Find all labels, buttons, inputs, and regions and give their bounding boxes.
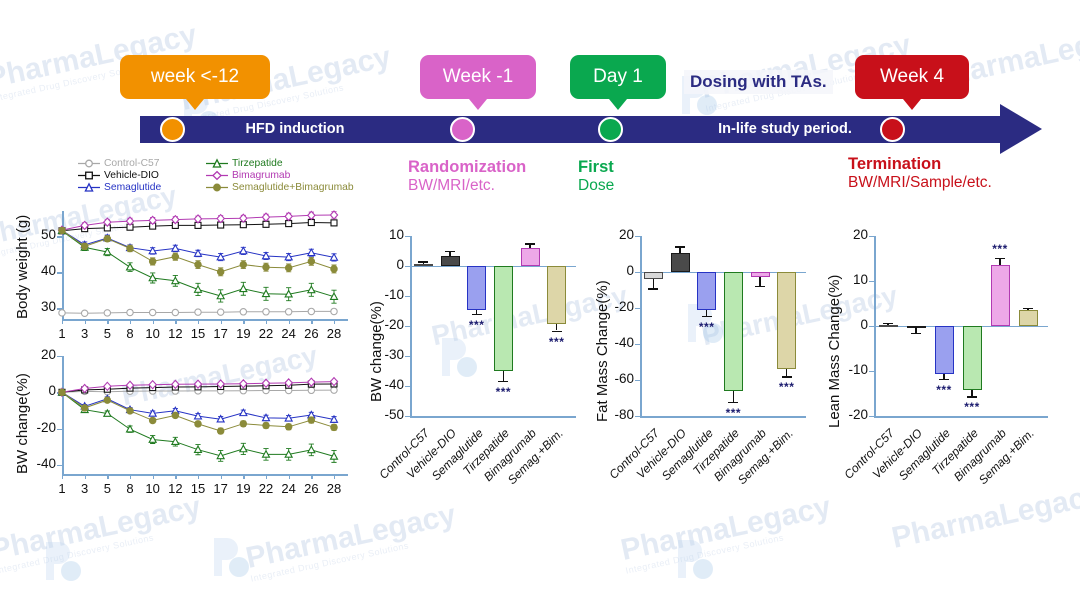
error-bar-cap: [883, 323, 893, 324]
line-series-layer: [0, 205, 360, 355]
bar: [644, 272, 663, 279]
timeline-milestone-label: Week -1: [443, 66, 513, 87]
pill-tail-icon: [609, 99, 627, 110]
circle-marker-icon: [78, 158, 100, 169]
bar: [879, 325, 898, 327]
error-bar-cap: [939, 379, 949, 380]
y-tick-label: -40: [598, 335, 634, 350]
bar: [671, 253, 690, 272]
error-bar: [759, 277, 760, 286]
day-1-node: [598, 117, 623, 142]
error-bar-cap: [1023, 308, 1033, 309]
bar: [724, 272, 743, 391]
bar: [991, 265, 1010, 326]
bar: [777, 272, 796, 369]
watermark-text: PharmaLegacy Integrated Drug Discovery S…: [618, 490, 836, 575]
y-tick-label: 0: [598, 263, 634, 278]
y-tickmark: [405, 416, 410, 417]
y-tick-label: -30: [368, 347, 404, 362]
error-bar-cap: [445, 251, 455, 252]
bar: [697, 272, 716, 310]
bw-change-line-chart: BW change(%)-40-200201358101215171922242…: [0, 348, 360, 508]
significance-marker: ***: [541, 335, 573, 349]
y-tick-label: -20: [368, 317, 404, 332]
dot-marker-icon: [206, 182, 228, 193]
y-tickmark: [635, 308, 640, 309]
axis-label-y: Lean Mass Change(%): [826, 275, 843, 428]
dosing-label: Dosing with TAs.: [684, 70, 833, 94]
y-tick-label: -20: [598, 299, 634, 314]
bar: [467, 266, 486, 310]
triangle-marker-icon: [206, 158, 228, 169]
significance-marker: ***: [461, 318, 493, 332]
zero-line: [874, 326, 1048, 327]
timeline-arrow-icon: [1000, 104, 1042, 154]
timeline-note-title: Termination: [848, 155, 992, 174]
timeline-milestone-label: Week 4: [880, 66, 944, 87]
legend-item-tirzepatide: Tirzepatide: [206, 158, 340, 169]
timeline-note-sub: BW/MRI/etc.: [408, 177, 495, 194]
timeline-milestone-pill[interactable]: Day 1: [570, 55, 666, 99]
y-tick-label: 20: [832, 227, 868, 242]
timeline-note: RandomizationBW/MRI/etc.: [408, 158, 526, 195]
timeline-milestone-label: week <-12: [151, 66, 239, 87]
watermark-logo-icon: [40, 538, 84, 584]
y-tick-label: -40: [368, 377, 404, 392]
y-tick-label: 20: [598, 227, 634, 242]
week-minus-1-node: [450, 117, 475, 142]
week-start-node: [160, 117, 185, 142]
error-bar-cap: [995, 258, 1005, 259]
x-axis: [874, 416, 1048, 418]
y-tickmark: [405, 296, 410, 297]
legend-item-semaglutide-bimagrumab: Semaglutide+Bimagrumab: [206, 182, 340, 193]
y-tickmark: [869, 416, 874, 417]
watermark-main: PharmaLegacy: [243, 498, 459, 575]
error-bar: [653, 279, 654, 288]
significance-marker: ***: [928, 383, 960, 397]
y-tick-label: -10: [368, 287, 404, 302]
error-bar-cap: [552, 331, 562, 332]
y-tickmark: [405, 386, 410, 387]
significance-marker: ***: [956, 400, 988, 414]
bw-change-bar-chart: BW change(%)100-10-20-30-40-50Control-C5…: [362, 228, 580, 503]
y-tick-label: -20: [832, 407, 868, 422]
y-tickmark: [869, 326, 874, 327]
legend-item-label: Vehicle-DIO: [104, 170, 159, 181]
bar: [963, 326, 982, 390]
diamond-marker-icon: [206, 170, 228, 181]
timeline-milestone-pill[interactable]: Week 4: [855, 55, 969, 99]
bar: [494, 266, 513, 371]
legend-item-label: Control-C57: [104, 158, 160, 169]
significance-marker: ***: [691, 320, 723, 334]
y-tick-label: -10: [832, 362, 868, 377]
body-weight-line-chart: Body weight (g)3040501358101215171922242…: [0, 205, 360, 355]
series-control-c57: [59, 308, 337, 316]
y-tick-label: 10: [368, 227, 404, 242]
y-tickmark: [635, 344, 640, 345]
y-tickmark: [635, 380, 640, 381]
y-tick-label: -60: [598, 371, 634, 386]
y-tickmark: [635, 272, 640, 273]
timeline-milestone-pill[interactable]: week <-12: [120, 55, 270, 99]
y-tick-label: -50: [368, 407, 404, 422]
watermark-text: PharmaLegacy Integrated Drug Discovery S…: [243, 498, 461, 583]
error-bar-cap: [728, 402, 738, 403]
watermark-logo-icon: [208, 534, 252, 580]
timeline-note-sub: BW/MRI/Sample/etc.: [848, 174, 992, 191]
legend-item-label: Bimagrumab: [232, 170, 290, 181]
legend-item-label: Tirzepatide: [232, 158, 283, 169]
bar: [414, 264, 433, 266]
y-tickmark: [405, 356, 410, 357]
line-chart-legend: Control-C57TirzepatideVehicle-DIOBimagru…: [78, 158, 340, 193]
y-axis: [410, 236, 412, 417]
legend-item-control-c57: Control-C57: [78, 158, 206, 169]
square-marker-icon: [78, 170, 100, 181]
legend-item-semaglutide: Semaglutide: [78, 182, 206, 193]
y-tickmark: [869, 371, 874, 372]
y-axis: [640, 236, 642, 417]
significance-marker: ***: [984, 242, 1016, 256]
legend-item-label: Semaglutide: [104, 182, 161, 193]
watermark-sub: Integrated Drug Discovery Solutions: [625, 522, 836, 576]
bar: [441, 256, 460, 266]
significance-marker: ***: [717, 406, 749, 420]
y-tickmark: [635, 236, 640, 237]
error-bar-cap: [525, 243, 535, 244]
legend-item-bimagrumab: Bimagrumab: [206, 170, 340, 181]
error-bar-cap: [472, 314, 482, 315]
error-bar-cap: [648, 288, 658, 289]
y-tickmark: [635, 416, 640, 417]
timeline-note: FirstDose: [578, 158, 614, 195]
lean-mass-change-bar-chart: Lean Mass Change(%)20100-10-20Control-C5…: [818, 228, 1058, 503]
bar: [521, 248, 540, 266]
y-tickmark: [869, 281, 874, 282]
y-tickmark: [869, 236, 874, 237]
legend-item-vehicle-dio: Vehicle-DIO: [78, 170, 206, 181]
error-bar-cap: [782, 376, 792, 377]
timeline-note-title: First: [578, 158, 614, 177]
pill-tail-icon: [903, 99, 921, 110]
error-bar-cap: [911, 333, 921, 334]
y-tick-label: 0: [832, 317, 868, 332]
error-bar-cap: [675, 246, 685, 247]
timeline-milestone-pill[interactable]: Week -1: [420, 55, 536, 99]
legend-item-label: Semaglutide+Bimagrumab: [232, 182, 354, 193]
y-tick-label: 10: [832, 272, 868, 287]
error-bar-cap: [967, 396, 977, 397]
error-bar: [556, 324, 557, 331]
timeline-milestone-label: Day 1: [593, 66, 643, 87]
watermark-logo-icon: [672, 536, 716, 582]
bar: [1019, 310, 1038, 326]
error-bar-cap: [418, 261, 428, 262]
error-bar-cap: [702, 316, 712, 317]
week-4-node: [880, 117, 905, 142]
timeline-note: TerminationBW/MRI/Sample/etc.: [848, 155, 992, 192]
fat-mass-change-bar-chart: Fat Mass Change(%)200-20-40-60-80Control…: [588, 228, 810, 503]
y-tickmark: [405, 326, 410, 327]
x-axis: [410, 416, 576, 418]
y-tickmark: [405, 236, 410, 237]
y-tick-label: -80: [598, 407, 634, 422]
timeline-note-sub: Dose: [578, 177, 614, 194]
error-bar-cap: [755, 286, 765, 287]
error-bar: [733, 391, 734, 402]
bar: [935, 326, 954, 374]
error-bar-cap: [498, 381, 508, 382]
bar: [547, 266, 566, 324]
pill-tail-icon: [469, 99, 487, 110]
timeline-segment-label: HFD induction: [140, 116, 450, 143]
series-semaglutide: [59, 227, 338, 261]
y-tickmark: [405, 266, 410, 267]
triangle-marker-icon: [78, 182, 100, 193]
line-series-layer: [0, 348, 360, 508]
watermark-sub: Integrated Drug Discovery Solutions: [250, 530, 461, 584]
error-bar: [503, 371, 504, 381]
pill-tail-icon: [186, 99, 204, 110]
watermark-sub: Integrated Drug Discovery Solutions: [0, 522, 205, 576]
error-bar: [786, 369, 787, 376]
y-tick-label: 0: [368, 257, 404, 272]
series-bimagrumab: [58, 211, 337, 234]
significance-marker: ***: [771, 380, 803, 394]
significance-marker: ***: [487, 385, 519, 399]
timeline-note-title: Randomization: [408, 158, 526, 177]
